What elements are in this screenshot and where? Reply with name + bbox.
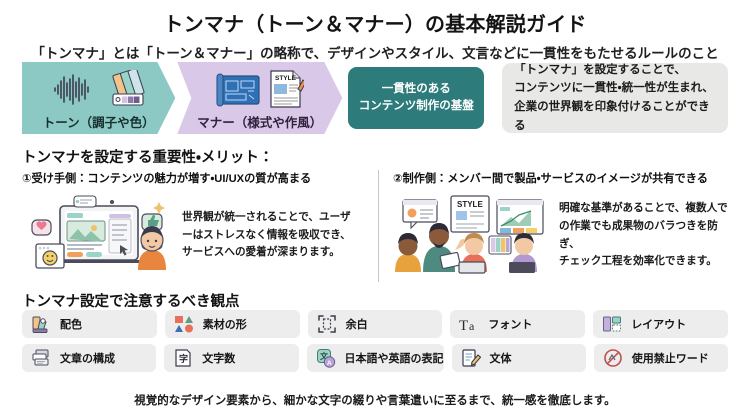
- merit-column-receiver: ①受け手側：コンテンツの魅力が増す・UI/UXの質が高まる: [22, 170, 372, 282]
- svg-text:a: a: [469, 319, 475, 333]
- note-line-3: 企業の世界観を印象付けることができる: [514, 98, 716, 135]
- svg-text:STYLE: STYLE: [275, 75, 297, 82]
- aspect-label: 使用禁止ワード: [632, 350, 709, 366]
- aspects-row: 配色 素材の形: [22, 310, 728, 338]
- color-palette-icon: [31, 314, 51, 334]
- merits-columns: ①受け手側：コンテンツの魅力が増す・UI/UXの質が高まる: [22, 170, 728, 282]
- merit-body-line-1: 世界観が統一されることで、ユーザ: [182, 209, 351, 227]
- merit-body-text: 明確な基準があることで、複数人で の作業でも成果物のバラつきを防ぎ、 チェック工…: [559, 200, 728, 271]
- aspect-shape[interactable]: 素材の形: [165, 310, 300, 338]
- aspect-color-scheme[interactable]: 配色: [22, 310, 157, 338]
- page-title: トンマナ（トーン＆マナー）の基本解説ガイド: [0, 0, 750, 37]
- user-with-screen-illustration: [22, 192, 174, 279]
- edit-pencil-note-icon: [461, 348, 481, 368]
- waveform-and-swatch-icon: [52, 68, 145, 110]
- aspect-layout[interactable]: レイアウト: [593, 310, 728, 338]
- aspect-prohibited-words[interactable]: 使用禁止ワード: [594, 344, 728, 372]
- flow-step-manner: STYLE マナー（様式や作風）: [177, 62, 342, 134]
- svg-text:STYLE: STYLE: [457, 200, 483, 209]
- aspect-language-notation[interactable]: 文 A 日本語や英語の表記: [307, 344, 444, 372]
- aspect-character-count[interactable]: 字 文字数: [164, 344, 298, 372]
- basis-line-1: 一貫性のある: [359, 81, 474, 98]
- prohibited-word-icon: [603, 348, 623, 368]
- aspect-label: レイアウト: [631, 316, 686, 332]
- infographic-page: トンマナ（トーン＆マナー）の基本解説ガイド 「トンマナ」とは「トーン＆マナー」の…: [0, 0, 750, 419]
- aspect-text-structure[interactable]: 文章の構成: [22, 344, 156, 372]
- blueprint-and-style-doc-icon: STYLE: [215, 68, 304, 110]
- translate-language-icon: 文 A: [316, 348, 336, 368]
- aspect-label: 文字数: [202, 350, 235, 366]
- aspect-label: 文章の構成: [60, 350, 115, 366]
- document-structure-icon: [31, 348, 51, 368]
- aspects-grid: 配色 素材の形: [22, 310, 728, 372]
- svg-text:字: 字: [179, 353, 188, 364]
- character-count-icon: 字: [173, 348, 193, 368]
- team-meeting-illustration: STYLE: [393, 192, 551, 279]
- aspect-margin[interactable]: 余白: [308, 310, 443, 338]
- merit-body-line-3: サービスへの愛着が深まります。: [182, 244, 351, 262]
- merit-column-producer: ②制作側：メンバー間で製品・サービスのイメージが共有できる STYLE: [378, 170, 728, 282]
- merit-subheading: ②制作側：メンバー間で製品・サービスのイメージが共有できる: [393, 170, 728, 186]
- aspect-label: 文体: [490, 350, 512, 366]
- aspect-label: 配色: [60, 316, 82, 332]
- flow-note-box: 「トンマナ」を設定することで、 コンテンツに一貫性・統一性が生まれ、 企業の世界…: [502, 63, 728, 133]
- aspect-label: 日本語や英語の表記: [345, 350, 444, 366]
- aspects-heading: トンマナ設定で注意するべき観点: [22, 290, 240, 311]
- flow-step-label: マナー（様式や作風）: [197, 112, 322, 131]
- crop-margin-icon: [317, 314, 337, 334]
- svg-text:A: A: [327, 360, 332, 367]
- flow-basis-box: 一貫性のある コンテンツ制作の基盤: [348, 67, 484, 129]
- typeface-Ta-icon: T a: [459, 314, 479, 334]
- aspect-writing-style[interactable]: 文体: [452, 344, 586, 372]
- aspect-label: フォント: [488, 316, 532, 332]
- layout-columns-icon: [602, 314, 622, 334]
- svg-text:T: T: [459, 318, 468, 334]
- note-line-2: コンテンツに一貫性・統一性が生まれ、: [514, 79, 716, 98]
- note-line-1: 「トンマナ」を設定することで、: [514, 61, 716, 80]
- flow-diagram: トーン（調子や色） STYLE: [22, 62, 728, 140]
- basis-line-2: コンテンツ制作の基盤: [359, 98, 474, 115]
- merit-body-text: 世界観が統一されることで、ユーザ ーはストレスなく情報を吸収でき、 サービスへの…: [182, 209, 351, 262]
- merit-body-line-1: 明確な基準があることで、複数人で: [559, 200, 728, 218]
- footer-text: 視覚的なデザイン要素から、細かな文字の綴りや言葉遣いに至るまで、統一感を徹底しま…: [0, 392, 750, 408]
- shapes-icon: [174, 314, 194, 334]
- aspect-font[interactable]: T a フォント: [450, 310, 585, 338]
- aspects-row: 文章の構成 字 文字数 文 A: [22, 344, 728, 372]
- aspect-label: 素材の形: [203, 316, 247, 332]
- merits-heading: トンマナを設定する重要性・メリット：: [22, 146, 273, 167]
- merit-subheading: ①受け手側：コンテンツの魅力が増す・UI/UXの質が高まる: [22, 170, 372, 186]
- aspect-label: 余白: [346, 316, 368, 332]
- flow-step-tone: トーン（調子や色）: [22, 62, 175, 134]
- flow-step-label: トーン（調子や色）: [43, 112, 155, 131]
- merit-body-line-2: ーはストレスなく情報を吸収でき、: [182, 227, 351, 245]
- merit-body-line-3: チェック工程を効率化できます。: [559, 253, 728, 271]
- page-subtitle: 「トンマナ」とは「トーン＆マナー」の略称で、デザインやスタイル、文言などに一貫性…: [0, 37, 750, 62]
- merit-body-line-2: の作業でも成果物のバラつきを防ぎ、: [559, 218, 728, 254]
